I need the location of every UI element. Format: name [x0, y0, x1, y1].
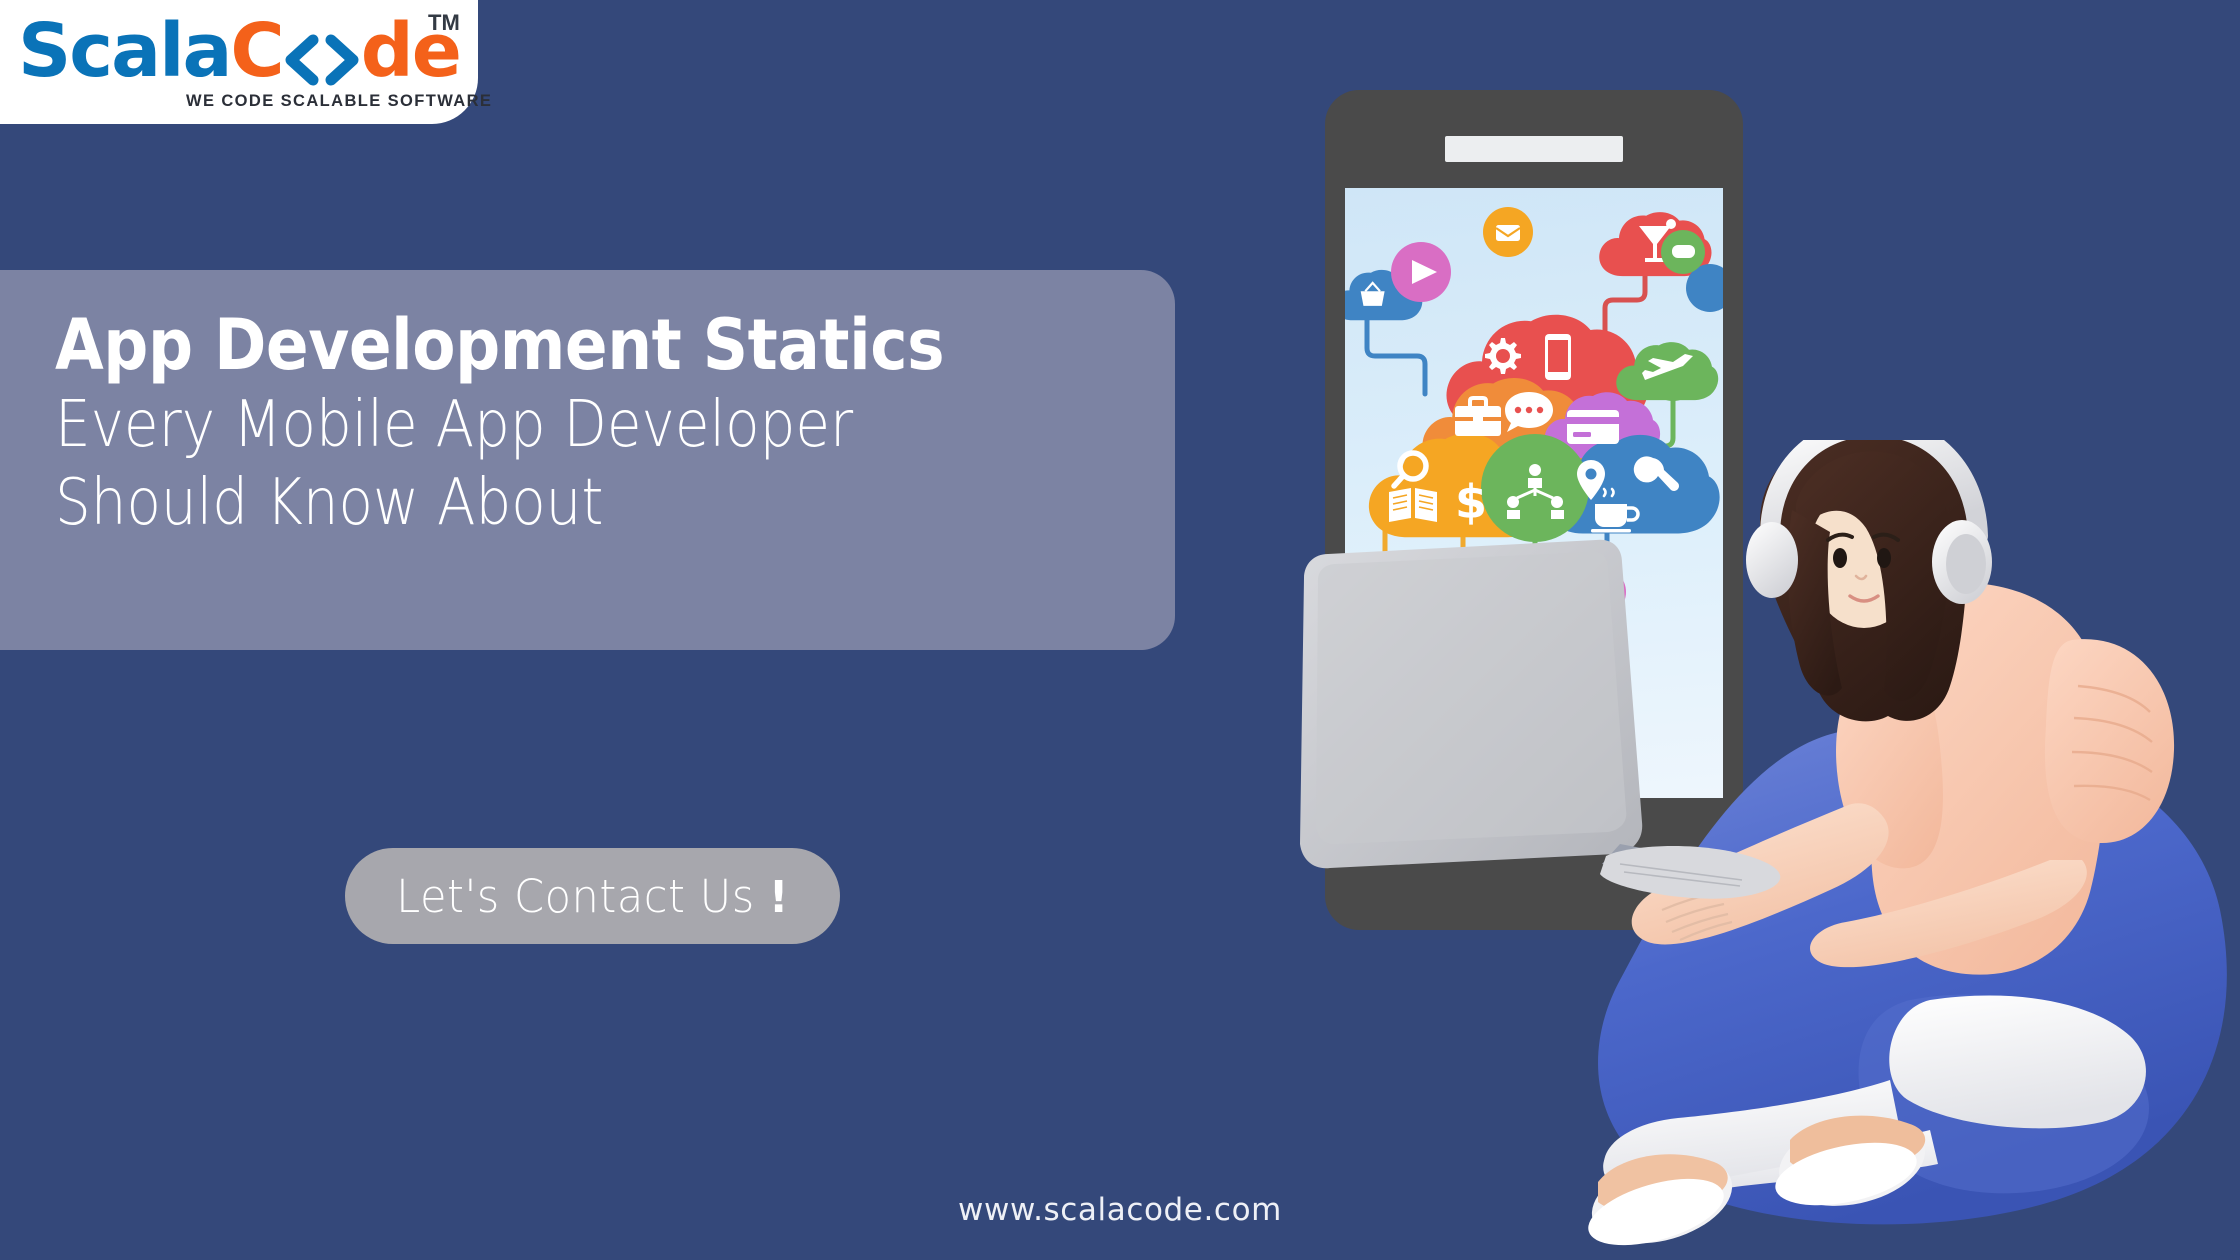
headline-line-1: App Development Statics	[55, 306, 1027, 386]
cta-text: Let's Contact Us	[396, 870, 755, 923]
eye-right	[1877, 548, 1891, 568]
logo-text-scala: Scala	[18, 8, 230, 94]
contact-us-button-label: Let's Contact Us !	[396, 870, 789, 923]
credit-card-icon	[1567, 410, 1619, 444]
brand-logo-badge[interactable]: ScalaC de TM WE CODE SCALABLE SOFTWARE	[0, 0, 478, 124]
headline-panel: App Development Statics Every Mobile App…	[0, 270, 1175, 650]
contact-us-button[interactable]: Let's Contact Us !	[345, 848, 840, 944]
poster-canvas: ScalaC de TM WE CODE SCALABLE SOFTWARE	[0, 0, 2240, 1260]
cta-exclamation: !	[769, 872, 789, 923]
logo-text-c: C	[230, 8, 282, 94]
character-illustration	[1290, 440, 2240, 1260]
logo-wordmark: ScalaC de	[18, 14, 460, 88]
headline-line-3: Should Know About	[55, 464, 1005, 542]
brand-tagline: WE CODE SCALABLE SOFTWARE	[186, 92, 492, 111]
eye-left	[1833, 548, 1847, 568]
code-chevrons-icon	[283, 28, 361, 80]
smartphone-icon	[1545, 334, 1571, 380]
headline-text-block: App Development Statics Every Mobile App…	[55, 306, 1135, 542]
headline-line-2: Every Mobile App Developer	[55, 386, 1005, 464]
trademark-symbol: TM	[428, 10, 460, 36]
phone-speaker-bar	[1445, 136, 1623, 162]
